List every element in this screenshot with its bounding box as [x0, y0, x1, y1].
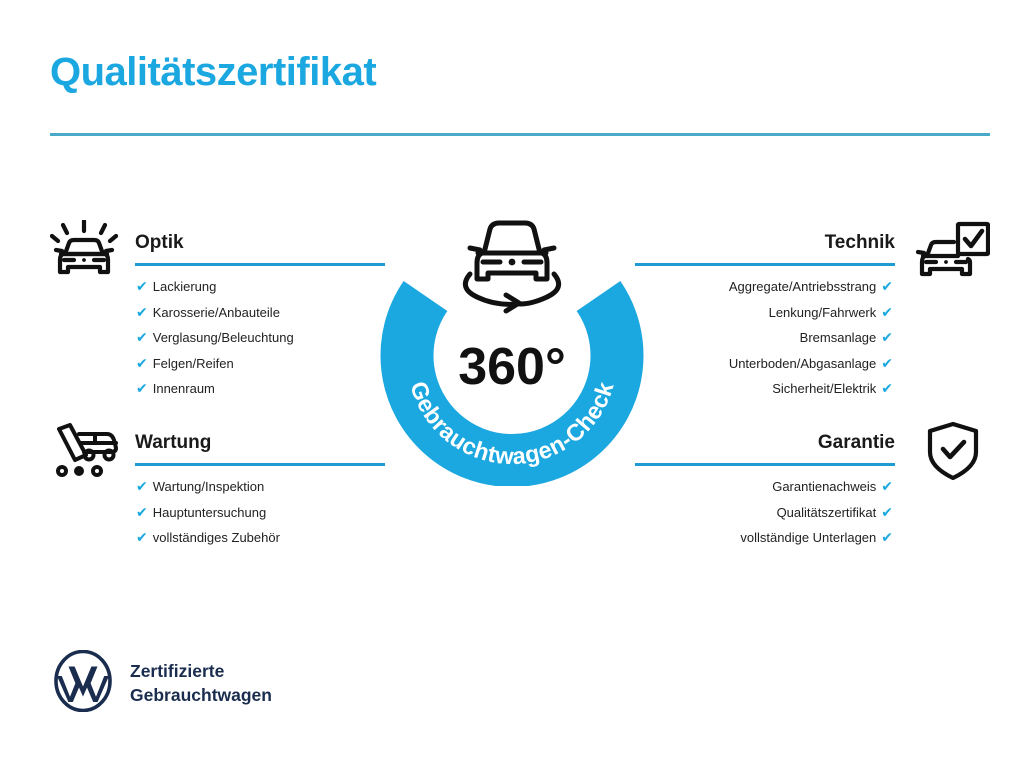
list-item: Lenkung/Fahrwerk✔	[635, 300, 893, 326]
list-item: Sicherheit/Elektrik✔	[635, 376, 893, 402]
check-icon: ✔	[881, 529, 893, 545]
header-divider	[50, 133, 990, 136]
check-icon: ✔	[881, 380, 893, 396]
list-item: ✔Innenraum	[136, 376, 385, 402]
footer-logo-block: Zertifizierte Gebrauchtwagen	[52, 650, 272, 717]
check-icon: ✔	[881, 504, 893, 520]
check-icon: ✔	[136, 304, 148, 320]
list-item-label: Qualitätszertifikat	[777, 505, 877, 520]
section-header: Optik	[50, 228, 385, 274]
list-item: ✔vollständiges Zubehör	[136, 525, 385, 551]
list-item-label: Verglasung/Beleuchtung	[153, 330, 294, 345]
list-item-label: Unterboden/Abgasanlage	[729, 356, 876, 371]
car-shine-icon	[50, 220, 120, 285]
check-icon: ✔	[881, 478, 893, 494]
section-divider	[635, 263, 895, 266]
check-icon: ✔	[881, 304, 893, 320]
list-item-label: Wartung/Inspektion	[153, 479, 265, 494]
list-item-label: vollständiges Zubehör	[153, 530, 280, 545]
section-optik: Optik ✔Lackierung ✔Karosserie/Anbauteile…	[50, 228, 385, 402]
badge-center-label: 360°	[458, 338, 566, 396]
list-item: Unterboden/Abgasanlage✔	[635, 351, 893, 377]
shield-check-icon	[924, 420, 982, 487]
footer-logo-line-1: Zertifizierte	[130, 660, 272, 684]
list-item-label: Bremsanlage	[800, 330, 877, 345]
footer-logo-line-2: Gebrauchtwagen	[130, 684, 272, 708]
check-icon: ✔	[136, 504, 148, 520]
badge-360-gebrauchtwagen-check: Gebrauchtwagen-Check 360°	[378, 196, 646, 486]
list-item: ✔Hauptuntersuchung	[136, 500, 385, 526]
list-item: Garantienachweis✔	[635, 474, 893, 500]
check-icon: ✔	[136, 329, 148, 345]
section-wartung: Wartung ✔Wartung/Inspektion ✔Hauptunters…	[50, 428, 385, 551]
check-icon: ✔	[881, 355, 893, 371]
check-icon: ✔	[136, 355, 148, 371]
list-item: ✔Verglasung/Beleuchtung	[136, 325, 385, 351]
check-icon: ✔	[881, 329, 893, 345]
section-garantie: Garantie Garantienachweis✔ Qualitätszert…	[635, 428, 990, 551]
check-icon: ✔	[136, 529, 148, 545]
list-item: Qualitätszertifikat✔	[635, 500, 893, 526]
list-item-label: Lackierung	[153, 279, 217, 294]
list-item: ✔Felgen/Reifen	[136, 351, 385, 377]
checklist-wartung: ✔Wartung/Inspektion ✔Hauptuntersuchung ✔…	[50, 474, 385, 551]
check-icon: ✔	[881, 278, 893, 294]
list-item-label: Lenkung/Fahrwerk	[769, 305, 877, 320]
list-item-label: vollständige Unterlagen	[740, 530, 876, 545]
car-checkbox-icon	[912, 220, 990, 285]
list-item-label: Hauptuntersuchung	[153, 505, 266, 520]
section-header: Garantie	[635, 428, 990, 474]
page-title: Qualitätszertifikat	[50, 50, 376, 94]
section-technik: Technik Aggregate/Antriebsstrang✔ Lenkun…	[635, 228, 990, 402]
car-lift-oil-icon	[50, 422, 120, 485]
section-divider	[135, 263, 385, 266]
list-item-label: Karosserie/Anbauteile	[153, 305, 280, 320]
section-header: Wartung	[50, 428, 385, 474]
check-icon: ✔	[136, 278, 148, 294]
list-item-label: Felgen/Reifen	[153, 356, 234, 371]
section-header: Technik	[635, 228, 990, 274]
list-item: ✔Lackierung	[136, 274, 385, 300]
list-item: ✔Karosserie/Anbauteile	[136, 300, 385, 326]
list-item-label: Aggregate/Antriebsstrang	[729, 279, 876, 294]
list-item: ✔Wartung/Inspektion	[136, 474, 385, 500]
section-divider	[635, 463, 895, 466]
list-item: Bremsanlage✔	[635, 325, 893, 351]
list-item: vollständige Unterlagen✔	[635, 525, 893, 551]
checklist-technik: Aggregate/Antriebsstrang✔ Lenkung/Fahrwe…	[635, 274, 990, 402]
section-divider	[135, 463, 385, 466]
check-icon: ✔	[136, 478, 148, 494]
car-rotate-icon	[465, 223, 558, 311]
footer-logo-text: Zertifizierte Gebrauchtwagen	[130, 660, 272, 707]
checklist-optik: ✔Lackierung ✔Karosserie/Anbauteile ✔Verg…	[50, 274, 385, 402]
list-item-label: Garantienachweis	[772, 479, 876, 494]
list-item: Aggregate/Antriebsstrang✔	[635, 274, 893, 300]
vw-logo	[52, 650, 114, 717]
list-item-label: Sicherheit/Elektrik	[772, 381, 876, 396]
check-icon: ✔	[136, 380, 148, 396]
list-item-label: Innenraum	[153, 381, 215, 396]
